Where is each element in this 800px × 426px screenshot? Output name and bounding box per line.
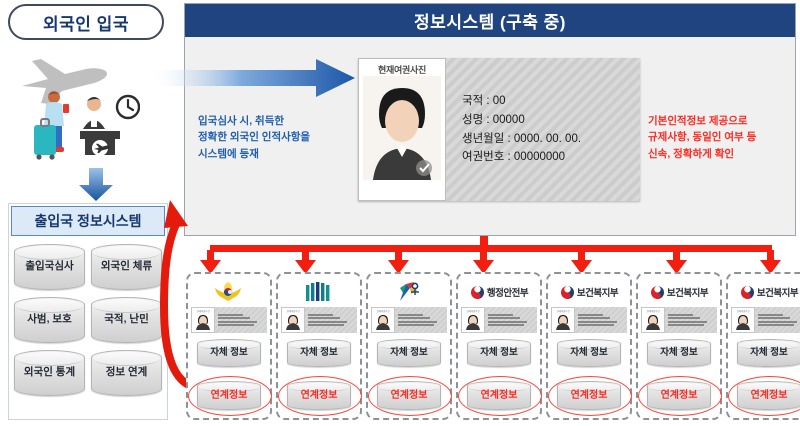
agency-header: 보건복지부	[560, 279, 618, 305]
own-info-label: 자체 정보	[480, 348, 518, 358]
agency-header: 행정안전부	[470, 279, 528, 305]
passport-field-birthdate: 생년월일 : 0000. 00. 00.	[462, 130, 640, 149]
mini-field-line	[308, 314, 333, 316]
agency-mini-passport-card: 현재여권사진	[551, 307, 627, 333]
verification-note-line: 신속, 정확하게 확인	[648, 146, 798, 162]
mini-field-line	[488, 324, 524, 326]
agency-name: 보건복지부	[667, 285, 708, 299]
agency-mini-passport-card: 현재여권사진	[191, 307, 267, 333]
mini-field-line	[398, 321, 437, 323]
mini-portrait-icon	[554, 313, 572, 330]
linked-info-label: 연계정보	[391, 390, 428, 401]
own-info-label: 자체 정보	[300, 348, 338, 358]
database-grid: 출입국심사 외국인 체류 사범, 보호 국적, 난민 외국인 통계 정보 연계	[14, 244, 162, 396]
database-cylinder[interactable]: 정보 연계	[91, 350, 162, 396]
mini-field-line	[308, 324, 344, 326]
verification-note-text: 기본인적정보 제공으로 규제사항, 동일인 여부 등 신속, 정확하게 확인	[648, 113, 798, 162]
linked-info-group: 연계정보	[278, 376, 360, 414]
agency-name: 보건복지부	[757, 285, 798, 299]
agency-header: 보건복지부	[650, 279, 708, 305]
clock-icon	[117, 96, 139, 118]
agency-card[interactable]: 행정안전부 현재여권사진	[456, 272, 542, 420]
exit-entry-system-title: 출입국 정보시스템	[11, 206, 165, 236]
down-arrow-to-system-icon	[78, 168, 114, 207]
linked-info-group: 연계정보	[458, 376, 540, 414]
mini-photo-box: 현재여권사진	[191, 307, 215, 333]
linked-info-cylinder[interactable]: 연계정보	[377, 381, 441, 410]
database-label: 외국인 통계	[24, 367, 75, 379]
mini-field-line	[668, 324, 704, 326]
database-cylinder[interactable]: 국적, 난민	[91, 297, 162, 343]
database-label: 외국인 체류	[101, 261, 152, 273]
mini-photo-box: 현재여권사진	[461, 307, 485, 333]
mini-field-line	[668, 317, 700, 319]
government-taegeuk-icon	[740, 285, 755, 300]
database-cylinder[interactable]: 외국인 통계	[14, 350, 85, 396]
mini-field-line	[218, 324, 254, 326]
linked-info-cylinder[interactable]: 연계정보	[737, 381, 800, 410]
mini-field-line	[218, 317, 250, 319]
linked-info-cylinder[interactable]: 연계정보	[197, 381, 261, 410]
agency-card[interactable]: 현재여권사진 자체 정보	[366, 272, 452, 420]
passport-field-passport-number: 여권번호 : 00000000	[462, 148, 640, 167]
mini-photo-label: 현재여권사진	[197, 309, 210, 313]
mini-field-list	[305, 307, 357, 333]
mini-field-line	[668, 314, 693, 316]
mini-field-line	[578, 314, 603, 316]
mini-field-list	[665, 307, 717, 333]
mini-field-line	[758, 324, 794, 326]
database-cylinder[interactable]: 외국인 체류	[91, 244, 162, 290]
own-info-cylinder[interactable]: 자체 정보	[557, 339, 621, 367]
linked-info-label: 연계정보	[571, 390, 608, 401]
database-cylinder[interactable]: 사범, 보호	[14, 297, 85, 343]
mini-field-list	[755, 307, 800, 333]
government-taegeuk-icon	[470, 285, 485, 300]
linked-info-group: 연계정보	[368, 376, 450, 414]
linked-info-label: 연계정보	[751, 390, 788, 401]
mini-photo-label: 현재여권사진	[287, 309, 300, 313]
agency-header	[394, 279, 424, 305]
own-info-cylinder[interactable]: 자체 정보	[377, 339, 441, 367]
exit-entry-information-system-panel: 출입국 정보시스템 출입국심사 외국인 체류 사범, 보호 국적, 난민 외국인…	[8, 203, 168, 420]
agency-mini-passport-card: 현재여권사진	[371, 307, 447, 333]
linked-info-group: 연계정보	[728, 376, 800, 414]
mini-field-line	[398, 317, 430, 319]
own-info-cylinder[interactable]: 자체 정보	[197, 339, 261, 367]
registration-note-text: 입국심사 시, 취득한 정확한 외국인 인적사항을 시스템에 등재	[198, 113, 348, 162]
passport-record-card: 현재여권사진 국적 : 00 성명 : 00000 생년월일 : 0000. 0…	[358, 58, 640, 201]
own-info-label: 자체 정보	[660, 348, 698, 358]
mini-field-line	[398, 314, 423, 316]
immigration-officer-desk-icon	[80, 97, 120, 156]
own-info-label: 자체 정보	[750, 348, 788, 358]
mini-field-line	[488, 317, 520, 319]
mini-field-list	[575, 307, 627, 333]
agency-card[interactable]: 현재여권사진 자체 정보	[276, 272, 362, 420]
mini-field-line	[578, 324, 614, 326]
linked-info-cylinder[interactable]: 연계정보	[287, 381, 351, 410]
mini-photo-box: 현재여권사진	[371, 307, 395, 333]
mini-photo-box: 현재여권사진	[731, 307, 755, 333]
mini-field-line	[758, 321, 797, 323]
own-info-label: 자체 정보	[210, 348, 248, 358]
mini-field-line	[668, 321, 707, 323]
linked-info-label: 연계정보	[661, 390, 698, 401]
own-info-cylinder[interactable]: 자체 정보	[467, 339, 531, 367]
linked-info-group: 연계정보	[188, 376, 270, 414]
mini-field-line	[398, 324, 434, 326]
mini-photo-box: 현재여권사진	[281, 307, 305, 333]
agency-mini-passport-card: 현재여권사진	[731, 307, 800, 333]
database-label: 정보 연계	[106, 367, 148, 379]
registration-note-line: 정확한 외국인 인적사항을	[198, 129, 348, 145]
information-system-title: 정보시스템 (구축 중)	[185, 4, 795, 37]
mini-field-line	[758, 314, 783, 316]
passport-photo-box: 현재여권사진	[358, 58, 446, 201]
registration-note-line: 입국심사 시, 취득한	[198, 113, 348, 129]
mini-field-list	[485, 307, 537, 333]
agency-name: 보건복지부	[577, 285, 618, 299]
agency-mini-passport-card: 현재여권사진	[281, 307, 357, 333]
suitcase-icon	[34, 119, 56, 160]
agency-card[interactable]: 현재여권사진 자체 정보	[186, 272, 272, 420]
mini-photo-box: 현재여권사진	[551, 307, 575, 333]
agency-card[interactable]: 보건복지부 현재여권사진	[636, 272, 722, 420]
agency-card[interactable]: 보건복지부 현재여권사진	[726, 272, 800, 420]
passport-field-name: 성명 : 00000	[462, 111, 640, 130]
database-label: 사범, 보호	[27, 314, 71, 326]
database-label: 국적, 난민	[104, 314, 148, 326]
own-info-cylinder[interactable]: 자체 정보	[647, 339, 711, 367]
mini-photo-label: 현재여권사진	[737, 309, 750, 313]
agency-card[interactable]: 보건복지부 현재여권사진	[546, 272, 632, 420]
own-info-label: 자체 정보	[570, 348, 608, 358]
mini-field-line	[488, 321, 527, 323]
linked-info-label: 연계정보	[211, 390, 248, 401]
linked-info-group: 연계정보	[638, 376, 720, 414]
mini-field-line	[308, 317, 340, 319]
agency-header	[304, 279, 334, 305]
agency-name: 행정안전부	[487, 285, 528, 299]
linked-info-group: 연계정보	[548, 376, 630, 414]
database-label: 출입국심사	[25, 261, 73, 273]
agency-card-row: 현재여권사진 자체 정보	[186, 272, 796, 420]
mini-portrait-icon	[194, 313, 212, 330]
own-info-cylinder[interactable]: 자체 정보	[737, 339, 800, 367]
mini-field-line	[308, 321, 347, 323]
linked-info-cylinder[interactable]: 연계정보	[467, 381, 531, 410]
verification-note-line: 기본인적정보 제공으로	[648, 113, 798, 129]
linked-info-cylinder[interactable]: 연계정보	[557, 381, 621, 410]
linked-info-label: 연계정보	[301, 390, 338, 401]
linked-info-cylinder[interactable]: 연계정보	[647, 381, 711, 410]
registration-note-line: 시스템에 등재	[198, 146, 348, 162]
agency-header: 보건복지부	[740, 279, 798, 305]
mini-field-list	[215, 307, 267, 333]
mini-field-line	[578, 321, 617, 323]
diagram-canvas: 외국인 입국	[0, 0, 800, 426]
mini-field-list	[395, 307, 447, 333]
agency-header	[213, 279, 245, 305]
mini-field-line	[218, 314, 243, 316]
immigration-inspection-scene	[30, 88, 140, 171]
passport-field-list: 국적 : 00 성명 : 00000 생년월일 : 0000. 00. 00. …	[446, 58, 640, 201]
government-taegeuk-icon	[560, 285, 575, 300]
mini-photo-label: 현재여권사진	[557, 309, 570, 313]
verification-note-line: 규제사항, 동일인 여부 등	[648, 129, 798, 145]
mini-field-line	[218, 321, 257, 323]
mini-portrait-icon	[644, 313, 662, 330]
mini-field-line	[758, 317, 790, 319]
mini-portrait-icon	[464, 313, 482, 330]
mini-photo-label: 현재여권사진	[647, 309, 660, 313]
mini-field-line	[488, 314, 513, 316]
mini-photo-label: 현재여권사진	[377, 309, 390, 313]
mini-portrait-icon	[284, 313, 302, 330]
data-registration-arrow-icon	[148, 58, 356, 103]
passport-field-nationality: 국적 : 00	[462, 92, 640, 111]
own-info-label: 자체 정보	[390, 348, 428, 358]
mini-portrait-icon	[374, 313, 392, 330]
court-scales-icon	[394, 281, 422, 303]
agency-mini-passport-card: 현재여권사진	[461, 307, 537, 333]
database-cylinder[interactable]: 출입국심사	[14, 244, 85, 290]
own-info-cylinder[interactable]: 자체 정보	[287, 339, 351, 367]
tax-service-bars-icon	[304, 281, 332, 303]
mini-photo-label: 현재여권사진	[467, 309, 480, 313]
linked-info-label: 연계정보	[481, 390, 518, 401]
police-emblem-icon	[213, 281, 243, 303]
mini-portrait-icon	[734, 313, 752, 330]
foreigner-entry-label: 외국인 입국	[8, 4, 164, 40]
mini-field-line	[578, 317, 610, 319]
mini-photo-box: 현재여권사진	[641, 307, 665, 333]
government-taegeuk-icon	[650, 285, 665, 300]
passport-photo-label: 현재여권사진	[378, 63, 426, 76]
passport-portrait-icon	[363, 76, 441, 180]
agency-mini-passport-card: 현재여권사진	[641, 307, 717, 333]
